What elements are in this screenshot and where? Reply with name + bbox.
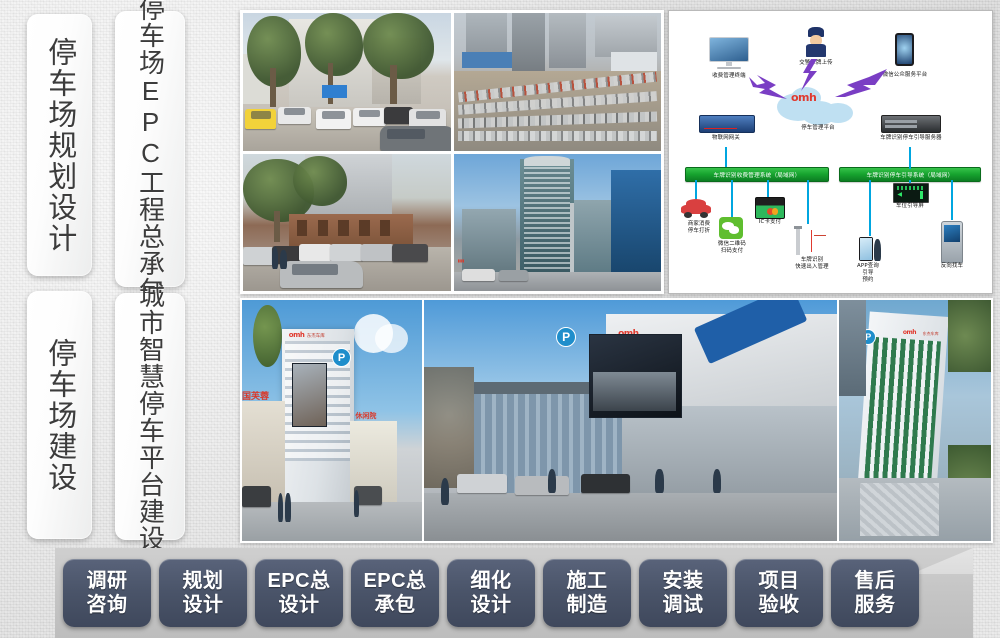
sidebar-item-smart-parking-platform[interactable]: 城市智慧停车平台建设 — [115, 293, 185, 540]
process-step-line1: EPC总 — [267, 570, 330, 593]
process-step-line2: 咨询 — [87, 594, 128, 617]
process-step-line2: 设计 — [471, 594, 512, 617]
photo-aerial-parking — [454, 13, 662, 151]
render-tower-garage-street: omh 东杰车库 P 国芙蓉 休闲院 — [242, 300, 422, 541]
render-sign-right: 休闲院 — [355, 411, 376, 421]
sidebar-item-parking-planning-design[interactable]: 停车场规划设计 — [27, 14, 92, 276]
app-query-guidance-label: APP查询引导预约 — [845, 263, 891, 283]
kiosk-icon — [941, 221, 963, 263]
parking-guidance-screen-label: 车位引导屏 — [885, 203, 935, 210]
app-phone-icon — [859, 237, 873, 261]
iot-gateway-label: 物联网网关 — [695, 135, 757, 142]
process-step-line2: 设计 — [183, 594, 224, 617]
lightning-connector-center — [799, 59, 821, 93]
guidance-server-label: 车牌识别停车引导服务器 — [867, 135, 955, 142]
process-step-line2: 制造 — [567, 594, 608, 617]
process-step-planning-design[interactable]: 规划 设计 — [159, 559, 247, 627]
process-bar: 调研 咨询 规划 设计 EPC总 设计 EPC总 承包 细化 设计 施工 制造 … — [55, 548, 1000, 638]
lightning-connector-right — [833, 67, 889, 101]
ic-card-icon — [755, 197, 785, 219]
billboard — [292, 363, 326, 428]
render-sign-left: 国芙蓉 — [242, 389, 269, 402]
system-bar-label: 车牌识别停车引导系统（局域网） — [867, 171, 954, 179]
parking-system-topology-diagram: 收费管理终端 交警车牌上传 微信公众服务平台 omh 停车管理平台 物联网网关 … — [668, 10, 993, 294]
process-step-line1: EPC总 — [363, 570, 426, 593]
parking-platform-label: 停车管理平台 — [783, 125, 853, 132]
parking-badge: P — [556, 327, 576, 347]
process-step-project-acceptance[interactable]: 项目 验收 — [735, 559, 823, 627]
police-officer-icon — [805, 27, 827, 57]
photo-brick-building-parking — [243, 154, 451, 292]
omh-logo: omh — [903, 329, 916, 336]
barrier-gate-icon — [793, 223, 827, 255]
sidebar-item-label: 停车场建设 — [43, 338, 75, 493]
sidebar-item-label: 城市智慧停车平台建设 — [135, 282, 164, 552]
process-step-line2: 服务 — [855, 594, 896, 617]
photo-collage: ▮▮▮ — [240, 10, 664, 294]
reverse-car-finding-label: 反向找车 — [931, 263, 973, 270]
process-step-line1: 安装 — [663, 570, 704, 593]
process-step-epc-design[interactable]: EPC总 设计 — [255, 559, 343, 627]
process-step-line1: 规划 — [183, 570, 224, 593]
process-step-line1: 项目 — [759, 570, 800, 593]
process-step-detailed-design[interactable]: 细化 设计 — [447, 559, 535, 627]
sidebar-item-label: 停车场EPC工程总承包 — [135, 0, 164, 304]
person-icon — [874, 239, 881, 261]
process-step-line2: 设计 — [279, 594, 320, 617]
photo-office-towers: ▮▮▮ — [454, 154, 662, 292]
router-icon — [699, 115, 755, 133]
process-step-line2: 承包 — [375, 594, 416, 617]
omh-logo-sub: 东杰车库 — [307, 333, 325, 339]
render-strip: omh 东杰车库 P 国芙蓉 休闲院 omh 东杰车库 P — [240, 298, 993, 543]
render-aerial-tower-garage: P omh 东杰车库 — [839, 300, 991, 541]
sidebar-item-label: 停车场规划设计 — [43, 37, 75, 254]
led-sign-icon: ◀ — [893, 183, 929, 203]
process-step-line1: 细化 — [471, 570, 512, 593]
process-step-after-sales-service[interactable]: 售后 服务 — [831, 559, 919, 627]
left-tab-column: 停车场规划设计 停车场EPC工程总承包 停车场建设 城市智慧停车平台建设 — [0, 0, 236, 546]
sidebar-item-parking-construction[interactable]: 停车场建设 — [27, 291, 92, 539]
omh-logo: omh — [289, 331, 305, 339]
smartphone-icon — [895, 33, 914, 66]
process-step-line2: 验收 — [759, 594, 800, 617]
wechat-icon — [719, 217, 743, 239]
process-step-survey-consulting[interactable]: 调研 咨询 — [63, 559, 151, 627]
merchant-discount-label: 商家消费停车打折 — [673, 221, 725, 235]
process-step-installation-commissioning[interactable]: 安装 调试 — [639, 559, 727, 627]
process-step-line1: 调研 — [87, 570, 128, 593]
ic-card-payment-label: IC卡支付 — [753, 219, 787, 226]
system-bar-label: 车牌识别收费管理系统（局域网） — [714, 171, 801, 179]
wechat-qr-payment-label: 微信二维码扫码支付 — [705, 241, 759, 255]
server-icon — [881, 115, 941, 133]
red-car-icon — [681, 197, 711, 219]
plate-recognition-fast-entry-label: 车牌识别快速出入管理 — [783, 257, 841, 271]
process-step-epc-contracting[interactable]: EPC总 承包 — [351, 559, 439, 627]
process-step-line2: 调试 — [663, 594, 704, 617]
render-multilevel-garage: omh 东杰车库 P — [424, 300, 837, 541]
process-step-construction-manufacturing[interactable]: 施工 制造 — [543, 559, 631, 627]
imac-icon — [709, 37, 749, 69]
process-step-line1: 施工 — [567, 570, 608, 593]
sidebar-item-parking-epc-contracting[interactable]: 停车场EPC工程总承包 — [115, 11, 185, 287]
photo-street-parking-lot — [243, 13, 451, 151]
lightning-connector-left — [743, 69, 789, 103]
omh-logo-sub: 东杰车库 — [923, 331, 939, 337]
process-step-line1: 售后 — [855, 570, 896, 593]
